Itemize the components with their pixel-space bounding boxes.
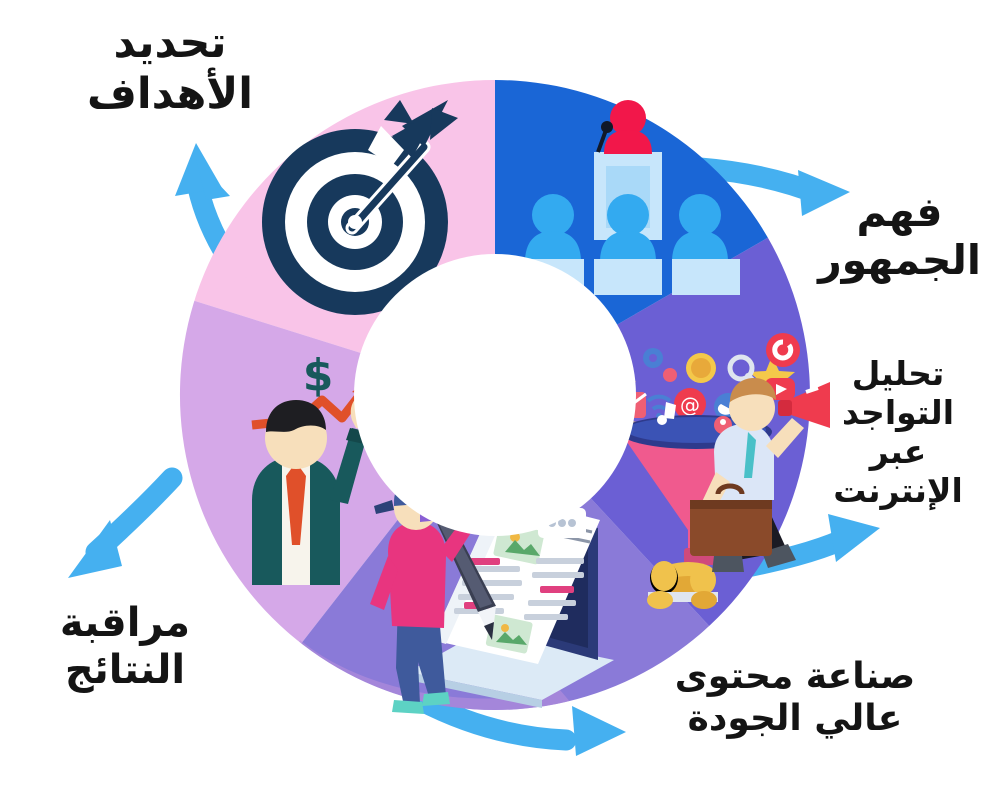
donut-center bbox=[354, 254, 636, 536]
step-label-analysis[interactable]: تحليل التواجد عبر الإنترنت bbox=[808, 355, 988, 511]
svg-text:$: $ bbox=[303, 350, 334, 401]
step-label-content[interactable]: صناعة محتوى عالي الجودة bbox=[600, 656, 990, 741]
coins-stack bbox=[647, 561, 718, 609]
infographic-canvas: $ bbox=[0, 0, 990, 800]
svg-text:@: @ bbox=[680, 393, 700, 417]
step-label-goals[interactable]: تحديد الأهداف bbox=[40, 18, 300, 119]
arrow-to-monitor-icon bbox=[68, 478, 172, 578]
step-label-audience[interactable]: فهم الجمهور bbox=[812, 188, 987, 285]
step-label-monitor[interactable]: مراقبة النتائج bbox=[15, 600, 235, 694]
